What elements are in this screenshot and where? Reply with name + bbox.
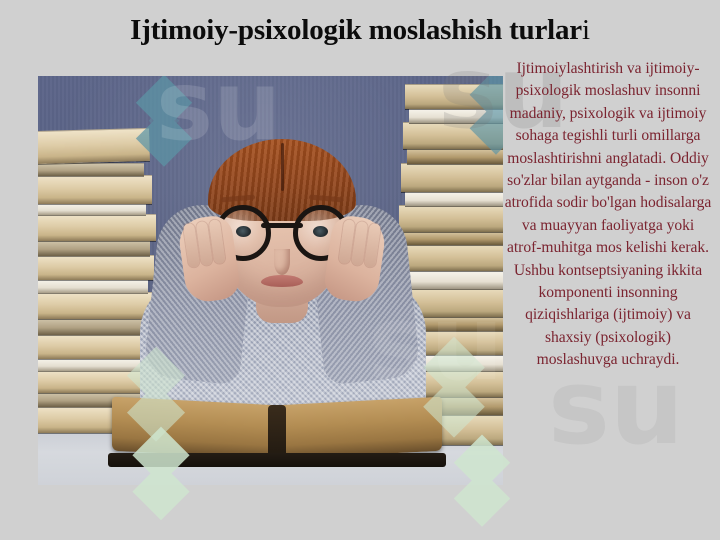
- book: [38, 203, 146, 215]
- eye-left: [236, 226, 251, 237]
- page-title-main: Ijtimoiy-psixologik moslashish turlar: [130, 14, 582, 46]
- book: [38, 292, 158, 319]
- eye-right: [313, 226, 328, 237]
- slide-photo: su su: [38, 76, 503, 485]
- open-book-page-left: [112, 397, 278, 460]
- book: [38, 358, 150, 371]
- book: [38, 255, 154, 280]
- book: [38, 334, 156, 359]
- body-paragraph: Ijtimoiylashtirish va ijtimoiy-psixologi…: [503, 58, 713, 372]
- book: [399, 205, 503, 232]
- book: [403, 231, 503, 245]
- open-book: [112, 391, 442, 469]
- book: [405, 191, 503, 206]
- hair-part: [281, 143, 284, 191]
- nose: [274, 249, 290, 275]
- book: [409, 108, 503, 123]
- book: [38, 163, 144, 176]
- page-title-tail: i: [582, 14, 590, 46]
- book: [38, 240, 150, 256]
- book: [38, 279, 148, 293]
- mouth: [261, 275, 303, 287]
- book: [405, 84, 503, 109]
- open-book-spine: [268, 405, 286, 457]
- book: [38, 214, 156, 241]
- book: [38, 318, 152, 335]
- book: [401, 163, 503, 192]
- page-title: Ijtimoiy-psixologik moslashish turlari: [0, 12, 720, 48]
- book: [397, 244, 503, 271]
- book: [403, 122, 503, 149]
- glasses-bridge: [261, 223, 303, 228]
- presentation-slide: Ijtimoiy-psixologik moslashish turlari: [0, 0, 720, 540]
- photo-person: [166, 97, 398, 427]
- book: [401, 270, 503, 289]
- book: [407, 148, 503, 164]
- open-book-base: [108, 453, 446, 467]
- book: [38, 175, 152, 204]
- open-book-page-right: [276, 397, 442, 460]
- book: [38, 128, 150, 164]
